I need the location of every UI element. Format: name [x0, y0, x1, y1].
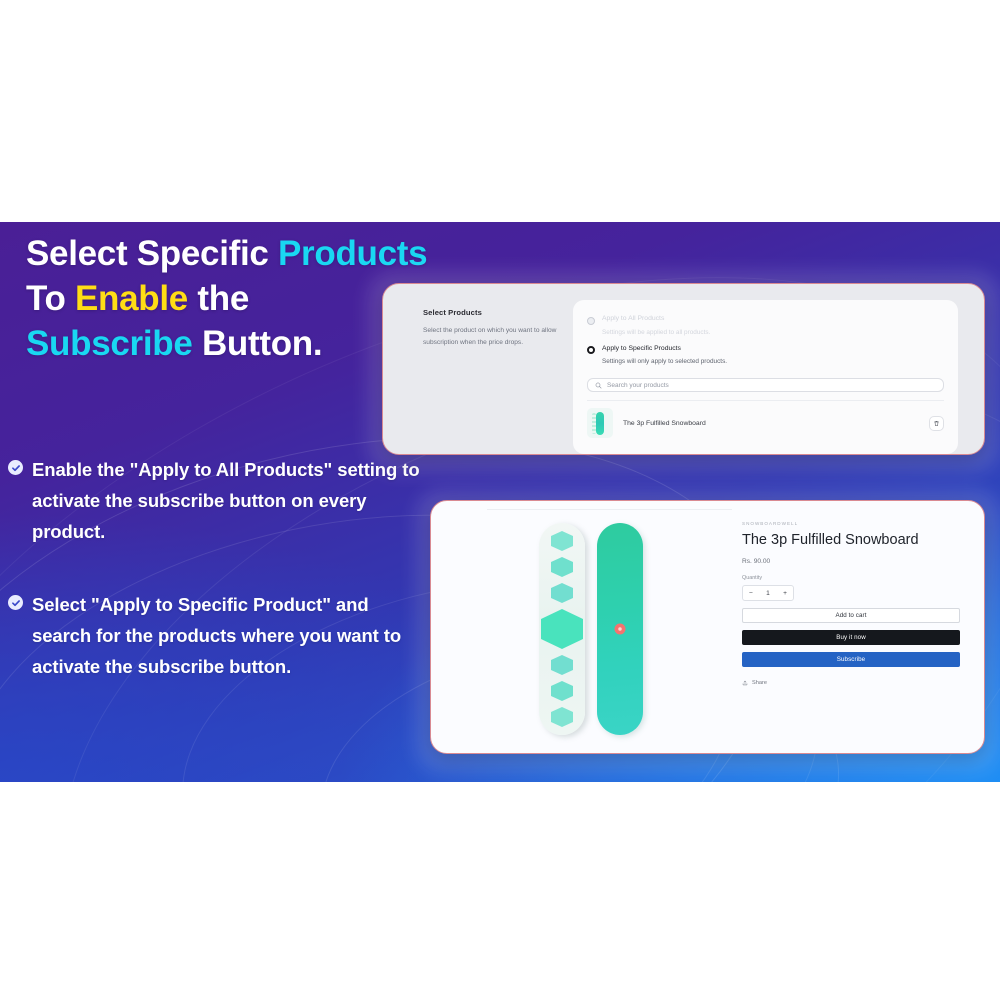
bullet-text: Select "Apply to Specific Product" and s… — [32, 589, 428, 682]
search-input[interactable]: Search your products — [587, 378, 944, 392]
share-label: Share — [752, 680, 767, 686]
share-link[interactable]: Share — [742, 680, 960, 686]
headline-text-select-specific: Select Specific — [26, 234, 278, 273]
product-vendor: SNOWBOARDWELL — [742, 521, 960, 526]
radio-description: Settings will be applied to all products… — [602, 329, 944, 336]
headline-text-to: To — [26, 279, 75, 318]
headline-highlight-subscribe: Subscribe — [26, 324, 193, 363]
admin-card-left-column: Select Products Select the product on wh… — [383, 284, 573, 454]
radio-option-apply-to-specific[interactable]: Apply to Specific Products — [587, 345, 944, 355]
radio-icon-unselected[interactable] — [587, 317, 595, 325]
check-circle-icon — [8, 595, 23, 610]
board-logo-dot — [615, 624, 626, 635]
radio-label: Apply to Specific Products — [602, 345, 681, 352]
list-item: Select "Apply to Specific Product" and s… — [8, 589, 428, 682]
headline-line-1: Select Specific Products — [26, 232, 456, 277]
radio-option-apply-to-all[interactable]: Apply to All Products — [587, 315, 944, 325]
quantity-increase-button[interactable]: + — [783, 590, 787, 597]
product-name: The 3p Fulfilled Snowboard — [623, 420, 919, 427]
headline-highlight-enable: Enable — [75, 279, 188, 318]
snowboard-thumbnail — [587, 408, 613, 438]
headline-text-button: Button. — [193, 324, 323, 363]
bullet-text: Enable the "Apply to All Products" setti… — [32, 454, 428, 547]
divider — [487, 509, 732, 510]
check-circle-icon — [8, 460, 23, 475]
radio-description: Settings will only apply to selected pro… — [602, 358, 944, 365]
feature-bullet-list: Enable the "Apply to All Products" setti… — [8, 454, 428, 706]
admin-card-settings-panel: Apply to All Products Settings will be a… — [573, 300, 958, 454]
delete-product-button[interactable] — [929, 416, 944, 431]
quantity-value: 1 — [766, 590, 770, 597]
page-title: The 3p Fulfilled Snowboard — [742, 531, 960, 549]
product-gallery — [431, 501, 736, 753]
product-image-snowboard-teal[interactable] — [597, 523, 643, 735]
trash-icon — [933, 420, 940, 427]
divider — [587, 400, 944, 401]
select-products-admin-card: Select Products Select the product on wh… — [382, 283, 985, 455]
radio-label: Apply to All Products — [602, 315, 664, 322]
storefront-product-card: SNOWBOARDWELL The 3p Fulfilled Snowboard… — [430, 500, 985, 754]
quantity-stepper[interactable]: − 1 + — [742, 585, 794, 601]
product-price: Rs. 90.00 — [742, 558, 960, 565]
quantity-decrease-button[interactable]: − — [749, 590, 753, 597]
section-title: Select Products — [423, 308, 557, 317]
buy-it-now-button[interactable]: Buy it now — [742, 630, 960, 645]
section-description: Select the product on which you want to … — [423, 325, 557, 348]
radio-icon-selected[interactable] — [587, 346, 595, 354]
quantity-label: Quantity — [742, 575, 960, 581]
headline-highlight-products: Products — [278, 234, 427, 273]
add-to-cart-button[interactable]: Add to cart — [742, 608, 960, 623]
search-icon — [595, 382, 602, 389]
list-item: Enable the "Apply to All Products" setti… — [8, 454, 428, 547]
subscribe-button[interactable]: Subscribe — [742, 652, 960, 667]
product-image-snowboard-white[interactable] — [539, 523, 585, 735]
headline-text-the: the — [188, 279, 249, 318]
table-row: The 3p Fulfilled Snowboard — [587, 408, 944, 438]
product-details: SNOWBOARDWELL The 3p Fulfilled Snowboard… — [736, 501, 984, 753]
share-icon — [742, 680, 748, 686]
search-placeholder: Search your products — [607, 382, 669, 389]
